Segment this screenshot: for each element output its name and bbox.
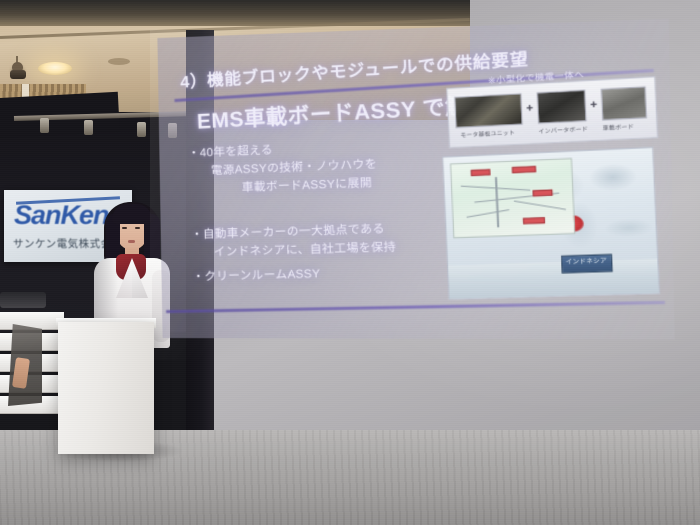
track-light	[137, 122, 146, 137]
ceiling-vent	[108, 58, 130, 65]
presenter-mouth	[128, 240, 135, 243]
product-thumbnail	[601, 86, 647, 120]
map-marker	[512, 166, 536, 173]
projected-slide: 4）機能ブロックやモジュールでの供給要望 EMS車載ボードASSY で解決 ・4…	[157, 19, 674, 340]
map-road	[514, 200, 566, 209]
plus-icon: +	[586, 98, 602, 112]
slide-bullet-list: ・40年を超える 電源ASSYの技術・ノウハウを 車載ボードASSYに展開 ・自…	[188, 134, 474, 287]
map-inset-detail	[450, 158, 575, 238]
plus-icon: +	[522, 102, 538, 115]
product-thumbnail	[454, 93, 523, 128]
slide-divider-bottom	[166, 301, 665, 313]
thumbnail-label: 車載ボード	[602, 121, 652, 132]
presenter-eye-right	[135, 227, 140, 229]
presenter-hair-front	[112, 204, 152, 224]
map-marker	[523, 217, 545, 224]
thumbnail-label: インバータボード	[538, 124, 603, 136]
podium: SanKen	[58, 322, 154, 454]
track-light	[40, 118, 49, 133]
spotlight-head	[10, 70, 26, 79]
map-region-label: インドネシア	[561, 254, 613, 274]
ceiling-lamp	[38, 62, 72, 75]
figure-map-panel: インドネシア	[442, 147, 660, 300]
map-road	[495, 177, 499, 227]
map-marker	[471, 169, 491, 176]
product-thumbnail	[537, 90, 587, 124]
presenter-eye-left	[122, 227, 127, 229]
map-marker	[533, 189, 553, 196]
map-road	[467, 209, 510, 218]
map-sea-area	[448, 259, 660, 300]
desk-items	[0, 292, 46, 308]
presentation-photo-scene: SanKen サンケン電気株式会社 SanKen	[0, 0, 700, 525]
figure-top-panel: + + モータ基板ユニット インバータボード 車載ボード	[446, 76, 658, 148]
track-light	[84, 120, 93, 135]
slide-bullet: ・クリーンルームASSY	[192, 262, 473, 287]
